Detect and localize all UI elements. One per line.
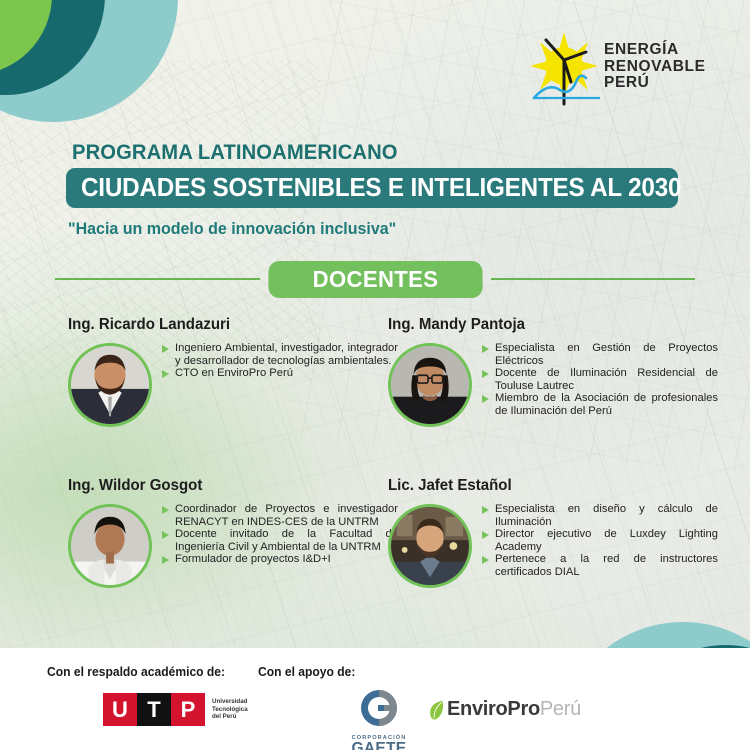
leaf-icon [428,699,445,721]
brand-line-2: RENOVABLE [604,59,706,76]
utp-letter-u: U [103,693,137,726]
instructor-bullet-list: Especialista en diseño y cálculo de Ilum… [481,501,718,579]
bullet-text: Director ejecutivo de Luxdey Lighting Ac… [495,528,718,553]
main-title-banner: CIUDADES SOSTENIBLES E INTELIGENTES AL 2… [66,168,678,208]
gaete-name-text: GAETE [336,741,422,750]
bullet-text: Docente invitado de la Facultad de Ingen… [175,528,398,553]
avatar [388,343,472,427]
instructor-name: Ing. Mandy Pantoja [388,316,708,334]
divider-line-left [55,278,260,280]
wind-turbine-sun-icon [524,30,604,110]
utp-letter-t: T [137,693,171,726]
brand-logo-text: ENERGÍA RENOVABLE PERÚ [604,42,706,92]
divider-line-right [491,278,696,280]
bullet-text: Docente de Iluminación Residencial de To… [495,367,718,392]
bullet-text: Pertenece a la red de instructores certi… [495,553,718,578]
portrait-photo-icon [391,346,469,424]
portrait-photo-icon [71,507,149,585]
poster-canvas: ENERGÍA RENOVABLE PERÚ PROGRAMA LATINOAM… [0,0,750,750]
section-banner: DOCENTES [55,258,695,300]
utp-sub-line-1: Universidad [212,698,248,706]
bullet-text: Coordinador de Proyectos e investigador … [175,503,398,528]
bullet-item: Coordinador de Proyectos e investigador … [161,503,398,528]
bullet-text: CTO en EnviroPro Perú [175,367,293,379]
bullet-item: Ingeniero Ambiental, investigador, integ… [161,342,398,367]
bullet-item: Docente invitado de la Facultad de Ingen… [161,528,398,553]
subtitle-quote: "Hacia un modelo de innovación inclusiva… [68,220,396,239]
instructor-name: Ing. Wildor Gosgot [68,477,388,495]
utp-sub-line-2: Tecnológica [212,706,248,714]
bullet-item: CTO en EnviroPro Perú [161,367,398,380]
instructor-card: Ing. Ricardo Landazuri Ingeniero Ambient… [68,316,398,427]
instructor-bullet-list: Coordinador de Proyectos e investigador … [161,501,398,566]
enviropro-name: EnviroPro [447,698,540,721]
section-banner-label: DOCENTES [268,261,482,298]
bullet-text: Especialista en diseño y cálculo de Ilum… [495,503,718,528]
bullet-item: Miembro de la Asociación de profesionale… [481,392,718,417]
utp-letter-blocks: U T P [103,693,205,726]
bullet-item: Formulador de proyectos I&D+I [161,553,398,566]
main-title-text: CIUDADES SOSTENIBLES E INTELIGENTES AL 2… [81,174,681,203]
avatar [388,504,472,588]
instructor-card: Lic. Jafet Estañol Especial [388,477,718,588]
bullet-text: Especialista en Gestión de Proyectos Elé… [495,342,718,367]
enviropro-logo: EnviroPro Perú [428,698,581,721]
portrait-photo-icon [71,346,149,424]
instructor-card: Ing. Mandy Pantoja [388,316,718,427]
brand-line-3: PERÚ [604,75,706,92]
utp-sub-line-3: del Perú [212,713,248,721]
bullet-item: Docente de Iluminación Residencial de To… [481,367,718,392]
instructor-bullet-list: Especialista en Gestión de Proyectos Elé… [481,340,718,418]
brand-line-1: ENERGÍA [604,42,706,59]
utp-subtitle: Universidad Tecnológica del Perú [212,698,248,721]
academic-support-label: Con el respaldo académico de: [47,665,225,679]
avatar [68,343,152,427]
avatar [68,504,152,588]
bullet-text: Ingeniero Ambiental, investigador, integ… [175,342,398,367]
instructor-name: Ing. Ricardo Landazuri [68,316,388,334]
enviropro-country: Perú [540,698,581,721]
footer-bar: Con el respaldo académico de: Con el apo… [0,648,750,750]
bullet-item: Especialista en Gestión de Proyectos Elé… [481,342,718,367]
bullet-item: Pertenece a la red de instructores certi… [481,553,718,578]
utp-letter-p: P [171,693,205,726]
instructor-name: Lic. Jafet Estañol [388,477,708,495]
sponsor-support-label: Con el apoyo de: [258,665,355,679]
bullet-text: Miembro de la Asociación de profesionale… [495,392,718,417]
portrait-photo-icon [391,507,469,585]
instructor-card: Ing. Wildor Gosgot Coordinador de Proyec… [68,477,398,588]
utp-logo: U T P Universidad Tecnológica del Perú [103,693,248,726]
bullet-text: Formulador de proyectos I&D+I [175,553,331,565]
gaete-g-icon [359,688,399,728]
gaete-logo: CORPORACIÓN GAETE [336,688,422,750]
brand-logo: ENERGÍA RENOVABLE PERÚ [524,30,716,112]
instructor-bullet-list: Ingeniero Ambiental, investigador, integ… [161,340,398,380]
bullet-item: Director ejecutivo de Luxdey Lighting Ac… [481,528,718,553]
bullet-item: Especialista en diseño y cálculo de Ilum… [481,503,718,528]
program-title: PROGRAMA LATINOAMERICANO [72,140,398,165]
